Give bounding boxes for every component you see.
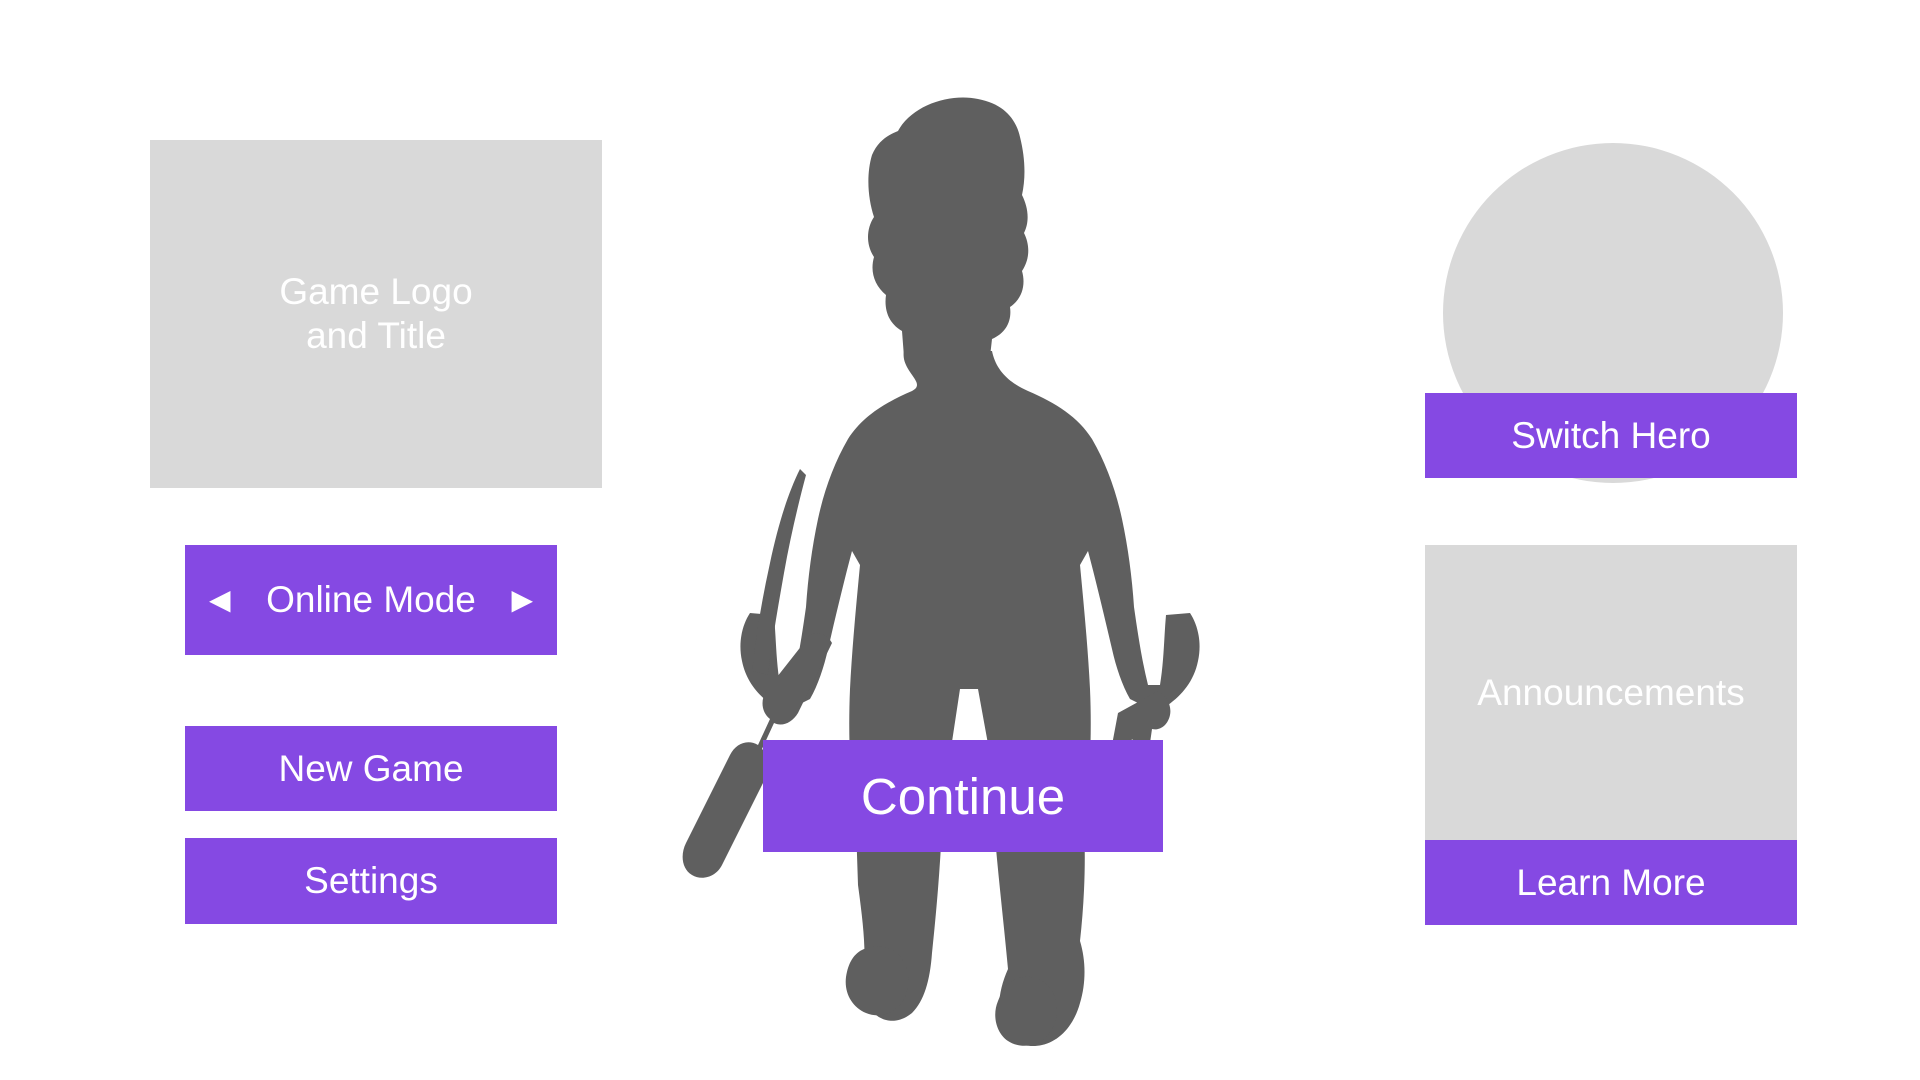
announcements-label: Announcements	[1477, 671, 1744, 715]
continue-button[interactable]: Continue	[763, 740, 1163, 852]
settings-button[interactable]: Settings	[185, 838, 557, 924]
main-menu-screen: Game Logo and Title ◀ Online Mode ▶ New …	[0, 0, 1920, 1080]
switch-hero-button[interactable]: Switch Hero	[1425, 393, 1797, 478]
game-logo-placeholder: Game Logo and Title	[150, 140, 602, 488]
game-logo-line-1: Game Logo	[279, 270, 472, 314]
chevron-right-icon[interactable]: ▶	[511, 586, 533, 614]
new-game-button[interactable]: New Game	[185, 726, 557, 811]
online-mode-selector[interactable]: ◀ Online Mode ▶	[185, 545, 557, 655]
mode-selector-value: Online Mode	[231, 579, 512, 621]
learn-more-button[interactable]: Learn More	[1425, 840, 1797, 925]
chevron-left-icon[interactable]: ◀	[209, 586, 231, 614]
game-logo-line-2: and Title	[306, 314, 446, 358]
hero-character-silhouette	[660, 95, 1270, 1055]
announcements-placeholder: Announcements	[1425, 545, 1797, 840]
